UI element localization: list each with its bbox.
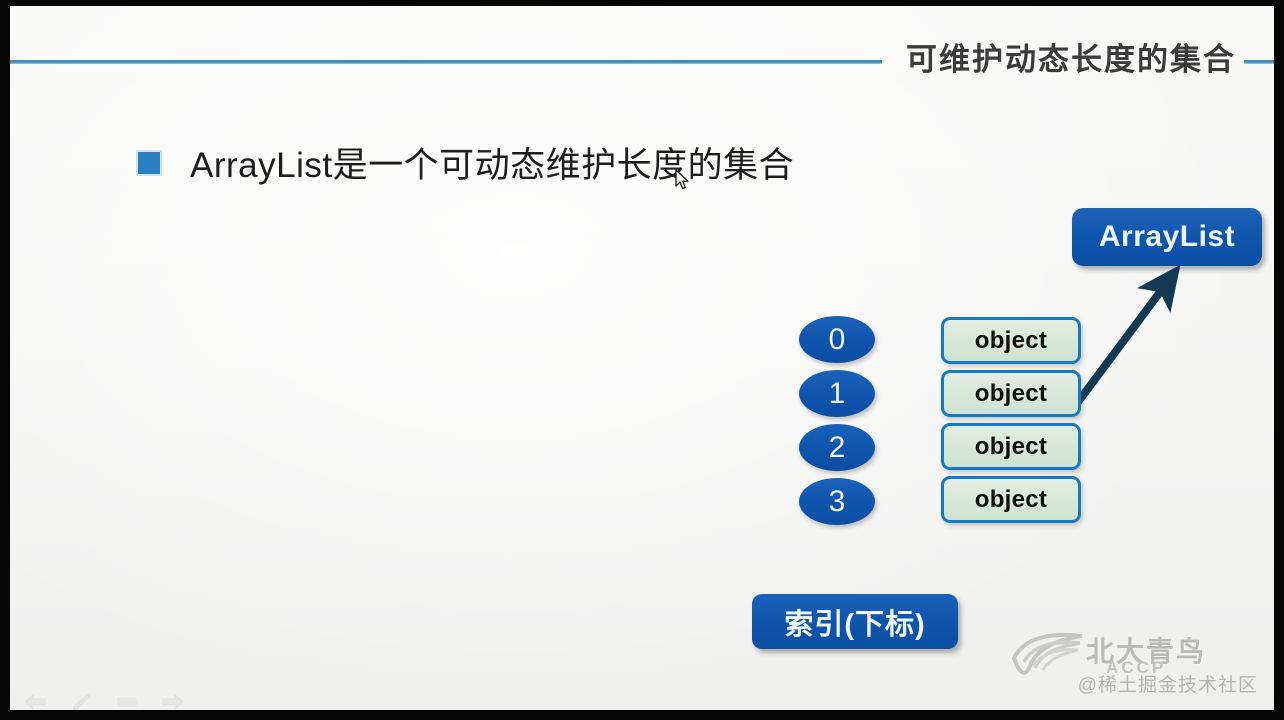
object-box: object xyxy=(941,476,1081,523)
annotation-toolbar[interactable] xyxy=(22,691,186,710)
bullet-text: ArrayList是一个可动态维护长度的集合 xyxy=(190,137,794,188)
presentation-slide: 可维护动态长度的集合 ArrayList是一个可动态维护长度的集合 ArrayL… xyxy=(10,6,1274,710)
video-player: 可维护动态长度的集合 ArrayList是一个可动态维护长度的集合 ArrayL… xyxy=(0,0,1284,720)
bullet-row: ArrayList是一个可动态维护长度的集合 xyxy=(136,137,794,188)
arraylist-chip-label: ArrayList xyxy=(1099,220,1235,254)
index-label-chip-text: 索引(下标) xyxy=(784,601,925,643)
object-box: object xyxy=(941,423,1081,470)
object-box-label: object xyxy=(975,327,1047,355)
index-oval-label: 3 xyxy=(829,487,846,517)
index-oval-label: 2 xyxy=(829,433,846,463)
index-label-chip: 索引(下标) xyxy=(752,594,958,649)
letterbox-top xyxy=(0,0,1284,6)
letterbox-bottom xyxy=(0,710,1284,720)
object-box: object xyxy=(941,317,1081,364)
index-oval: 2 xyxy=(799,424,875,471)
forward-arrow-icon[interactable] xyxy=(160,691,186,710)
header-rule-left xyxy=(10,60,882,64)
diagonal-arrow-up-right-icon xyxy=(1070,264,1220,414)
rectangle-icon[interactable] xyxy=(114,691,140,710)
index-oval: 0 xyxy=(799,316,875,363)
object-box-label: object xyxy=(975,486,1047,514)
index-oval-label: 1 xyxy=(829,379,846,409)
square-bullet-icon xyxy=(136,150,162,176)
pen-icon[interactable] xyxy=(68,691,94,710)
index-column: 0 1 2 3 xyxy=(799,316,875,532)
letterbox-left xyxy=(0,0,10,720)
letterbox-right xyxy=(1274,0,1284,720)
index-oval-label: 0 xyxy=(829,325,846,355)
slide-title: 可维护动态长度的集合 xyxy=(906,34,1236,79)
object-box-label: object xyxy=(975,380,1047,408)
back-arrow-icon[interactable] xyxy=(22,691,48,710)
arraylist-chip: ArrayList xyxy=(1072,208,1262,266)
mouse-cursor xyxy=(675,169,691,191)
index-oval: 3 xyxy=(799,478,875,525)
header-rule-right xyxy=(1244,60,1274,64)
object-box-label: object xyxy=(975,433,1047,461)
object-box: object xyxy=(941,370,1081,417)
watermark: @稀土掘金技术社区 xyxy=(1078,670,1258,697)
object-column: object object object object xyxy=(941,317,1081,529)
index-oval: 1 xyxy=(799,370,875,417)
